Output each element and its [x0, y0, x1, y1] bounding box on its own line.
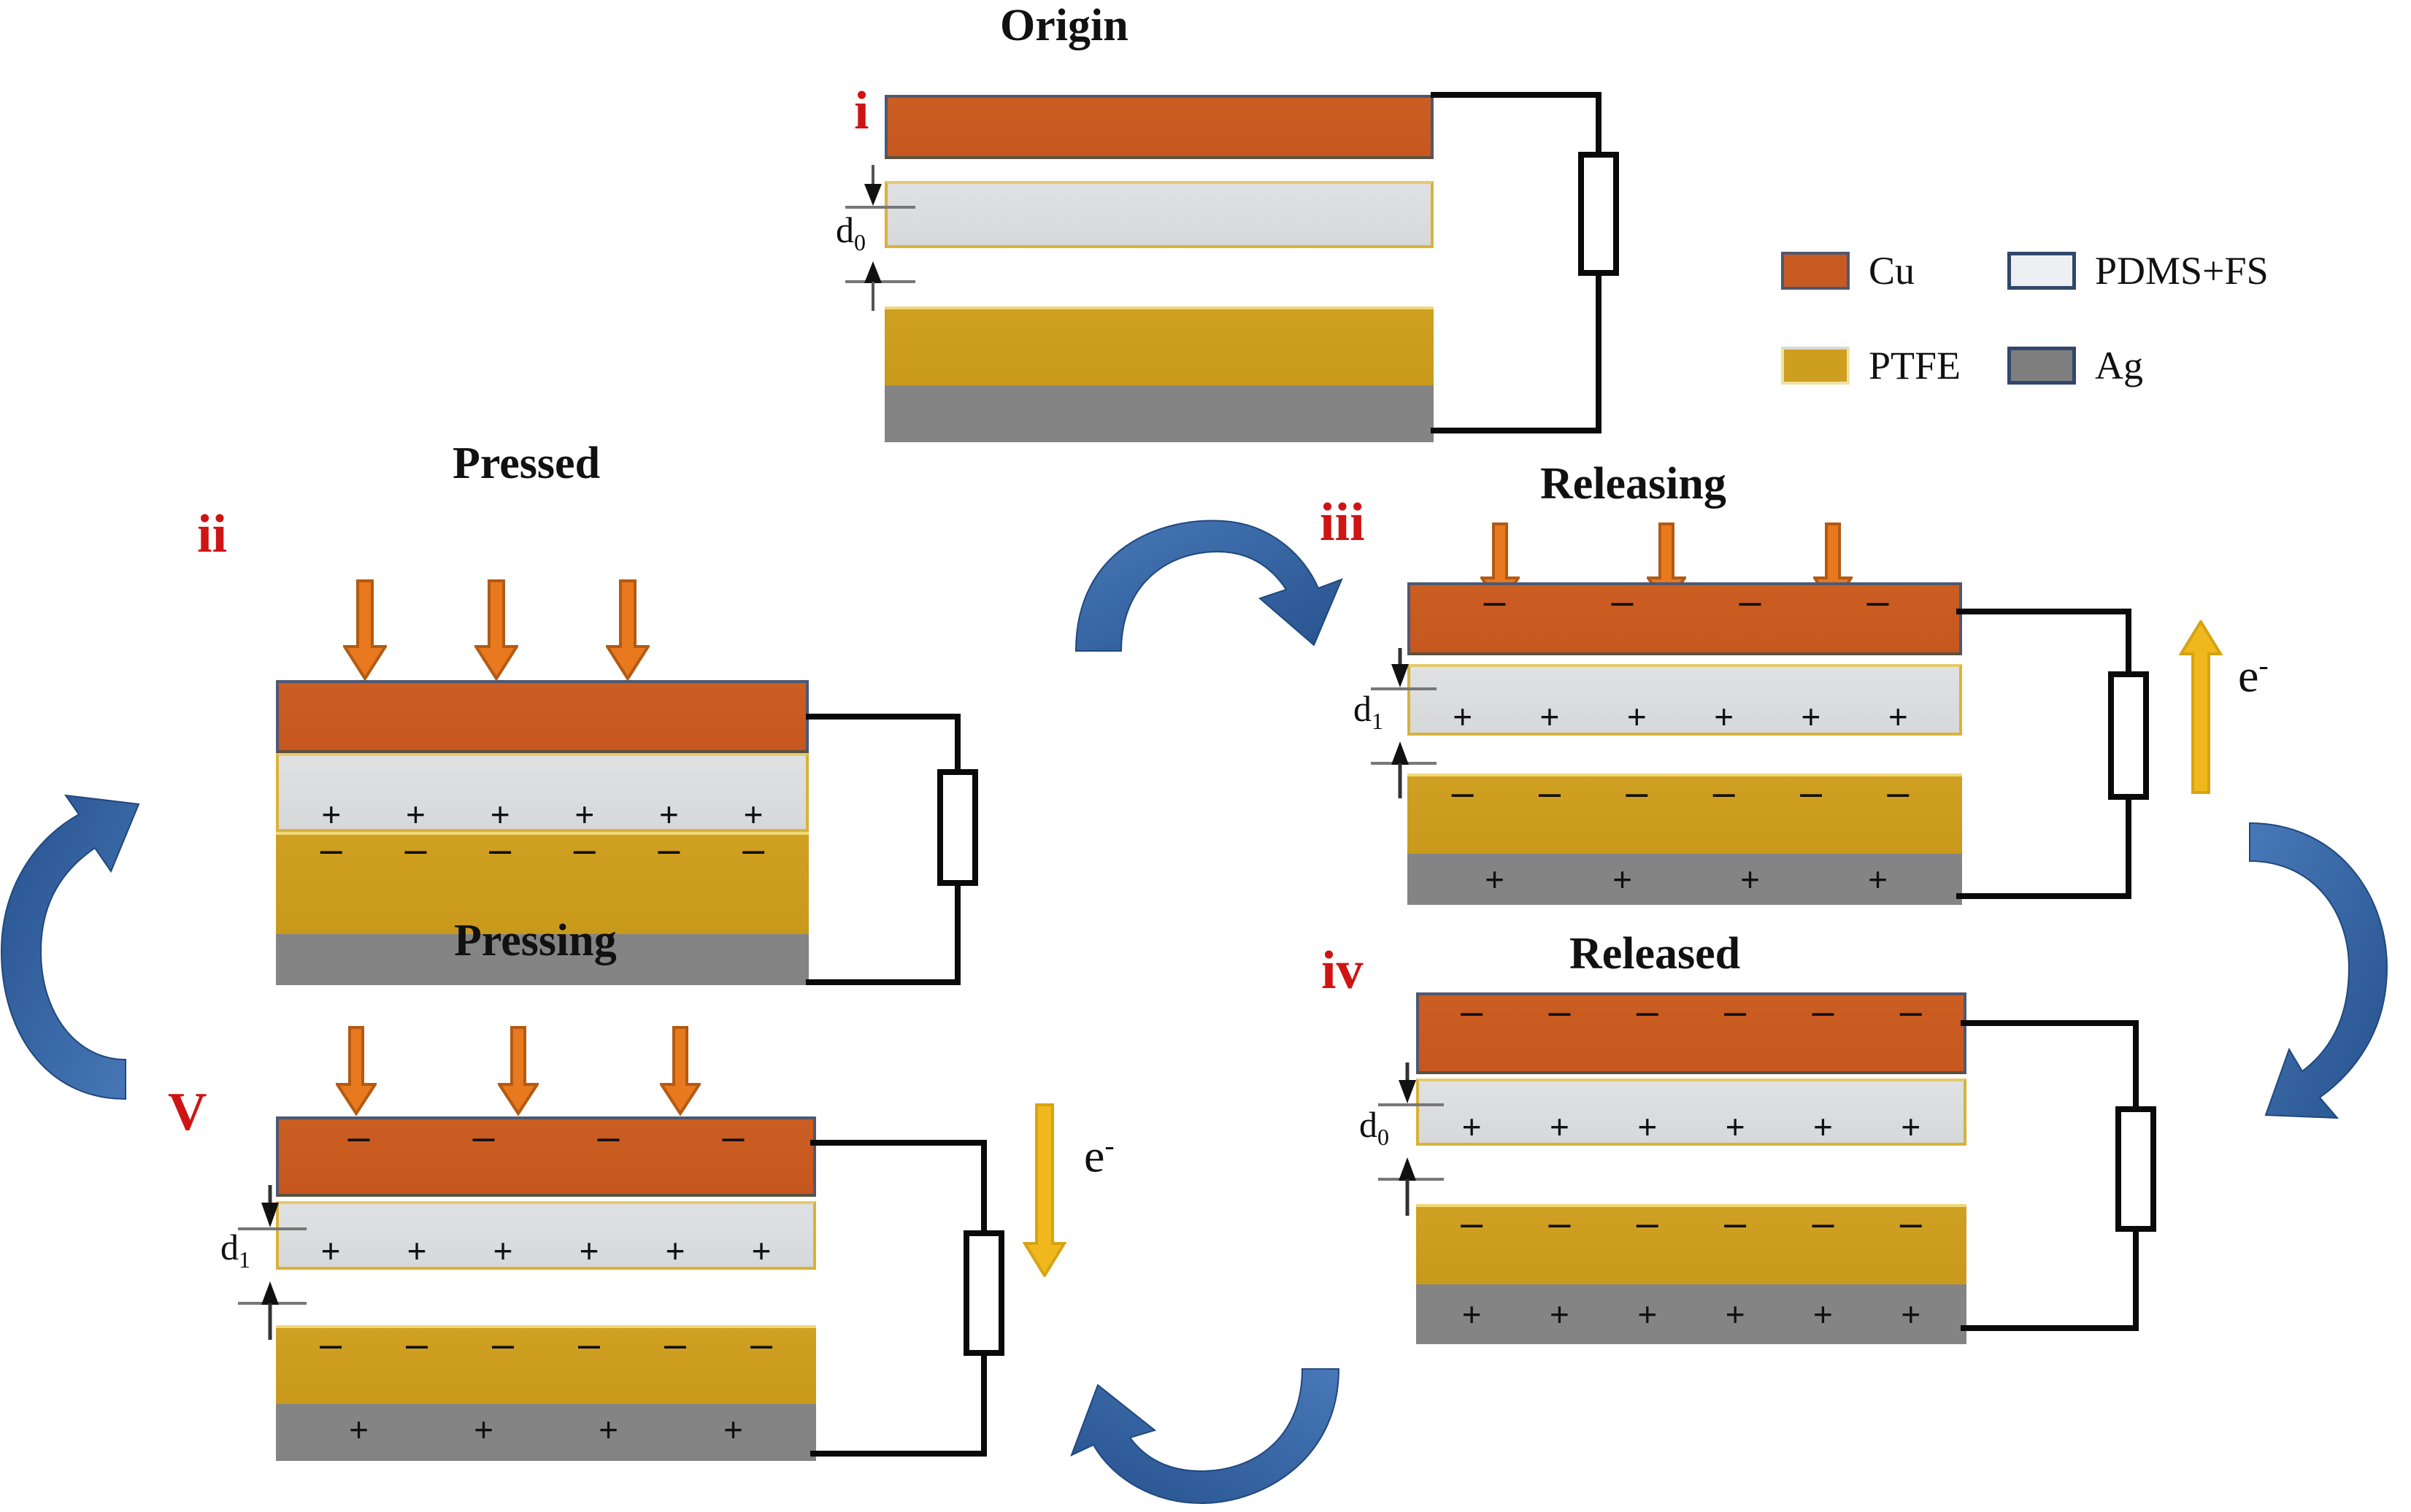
pressure-arrow-icon [606, 579, 650, 682]
pressure-arrow-icon [498, 1026, 539, 1116]
layer-cu-ii [276, 680, 809, 753]
layer-cu-v [276, 1116, 816, 1197]
layer-pdms-iii [1407, 664, 1962, 736]
panel-origin: Origin i d0 [839, 0, 1642, 452]
layer-ptfe-iv [1416, 1204, 1966, 1284]
gap-label-text-i: d [836, 209, 854, 250]
legend: Cu PDMS+FS PTFE Ag [1781, 248, 2365, 401]
circuit-iii [1956, 607, 2197, 914]
electron-superscript: - [2258, 649, 2268, 682]
layer-pdms-ii [276, 753, 809, 832]
legend-item-cu: Cu [1781, 248, 1915, 293]
gap-label-text-iii: d [1353, 688, 1372, 729]
gap-label-iv: d0 [1359, 1103, 1389, 1151]
panel-pressing: Pressing V – – – [168, 890, 1080, 1386]
panel-title-origin: Origin [1000, 0, 1128, 52]
gap-label-text-iv: d [1359, 1104, 1377, 1145]
cycle-arrow-iii-to-iv-icon [2241, 817, 2411, 1124]
electron-flow-arrow-up-icon [2178, 620, 2223, 795]
panel-numeral-i: i [854, 80, 869, 142]
electron-superscript: - [1104, 1129, 1114, 1162]
panel-pressed: Pressed ii + + + [182, 423, 1058, 890]
circuit-v [810, 1138, 1051, 1474]
gap-label-v: d1 [220, 1226, 250, 1273]
figure-canvas: Origin i d0 Cu [0, 0, 2411, 1512]
legend-label-pdms: PDMS+FS [2095, 248, 2269, 293]
layer-ptfe-iii [1407, 774, 1962, 854]
gap-label-text-v: d [220, 1227, 239, 1268]
legend-label-cu: Cu [1869, 248, 1915, 293]
layer-cu-iv [1416, 992, 1966, 1074]
pressure-arrow-icon [336, 1026, 377, 1116]
legend-item-pdms: PDMS+FS [2007, 248, 2269, 293]
cycle-arrow-iv-to-v-icon [1022, 1349, 1387, 1512]
gap-label-i: d0 [836, 209, 866, 256]
panel-released: Released iv – – – – – – + + + + + + – – … [1277, 898, 2219, 1379]
gap-label-sub-i: 0 [854, 229, 866, 255]
pressure-arrows-ii [343, 579, 650, 682]
electron-flow-arrow-down-icon [1022, 1102, 1067, 1277]
layer-ptfe-v [276, 1325, 816, 1404]
layer-ag-iv [1416, 1284, 1966, 1344]
panel-title-released: Released [1569, 928, 1740, 980]
legend-item-ptfe: PTFE [1781, 343, 1961, 388]
ag-swatch-icon [2007, 347, 2076, 385]
cu-swatch-icon [1781, 252, 1850, 290]
pressure-arrow-icon [660, 1026, 701, 1116]
legend-label-ptfe: PTFE [1869, 343, 1961, 388]
circuit-i [1431, 88, 1650, 460]
ptfe-swatch-icon [1781, 347, 1850, 385]
panel-numeral-ii: ii [197, 504, 227, 566]
gap-label-iii: d1 [1353, 687, 1383, 735]
layer-cu-i [885, 95, 1434, 159]
circuit-iv [1961, 1019, 2202, 1347]
legend-item-ag: Ag [2007, 343, 2143, 388]
layer-pdms-v [276, 1201, 816, 1270]
gap-label-sub-v: 1 [239, 1246, 250, 1273]
layer-cu-iii [1407, 582, 1962, 655]
layer-ptfe-i [885, 306, 1434, 385]
cycle-arrow-ii-to-iii-icon [1051, 482, 1372, 671]
panel-title-pressing: Pressing [454, 915, 617, 967]
panel-title-pressed: Pressed [453, 438, 600, 490]
pdms-swatch-icon [2007, 252, 2076, 290]
panel-releasing: Releasing iii – – [1277, 452, 2219, 919]
electron-symbol: e [2238, 649, 2258, 701]
electron-label-v: e- [1084, 1128, 1115, 1183]
panel-numeral-iv: iv [1321, 940, 1364, 1002]
panel-title-releasing: Releasing [1540, 458, 1726, 510]
cycle-arrow-v-to-ii-icon [0, 794, 178, 1108]
gap-label-sub-iii: 1 [1372, 708, 1383, 734]
gap-label-sub-iv: 0 [1377, 1124, 1389, 1150]
pressure-arrow-icon [474, 579, 518, 682]
electron-label-iii: e- [2238, 648, 2269, 703]
layer-pdms-i [885, 181, 1434, 248]
pressure-arrows-v [336, 1026, 701, 1116]
layer-ag-v [276, 1404, 816, 1461]
electron-symbol: e [1084, 1130, 1104, 1181]
layer-pdms-iv [1416, 1079, 1966, 1146]
pressure-arrow-icon [343, 579, 387, 682]
legend-label-ag: Ag [2095, 343, 2143, 388]
